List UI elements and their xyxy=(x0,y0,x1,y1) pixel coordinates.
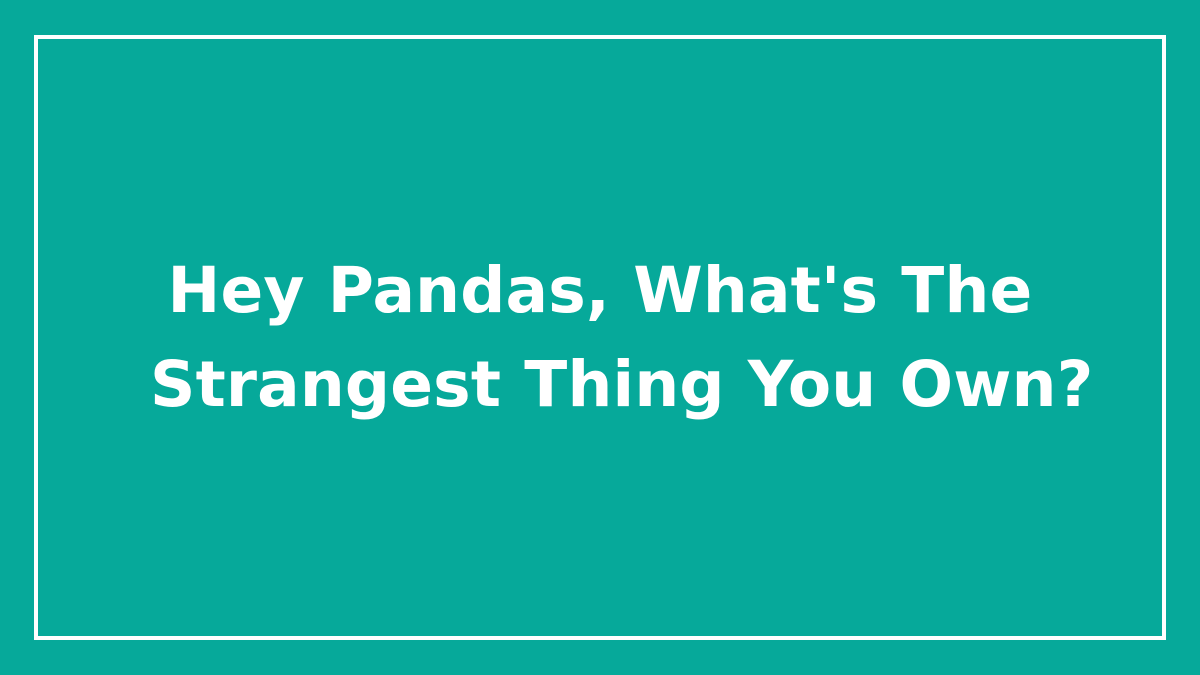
headline-line-2: Strangest Thing You Own? xyxy=(150,338,1050,432)
headline-text: Hey Pandas, What's The Strangest Thing Y… xyxy=(150,244,1050,432)
headline-line-1: Hey Pandas, What's The xyxy=(150,244,1050,338)
title-card: Hey Pandas, What's The Strangest Thing Y… xyxy=(0,0,1200,675)
